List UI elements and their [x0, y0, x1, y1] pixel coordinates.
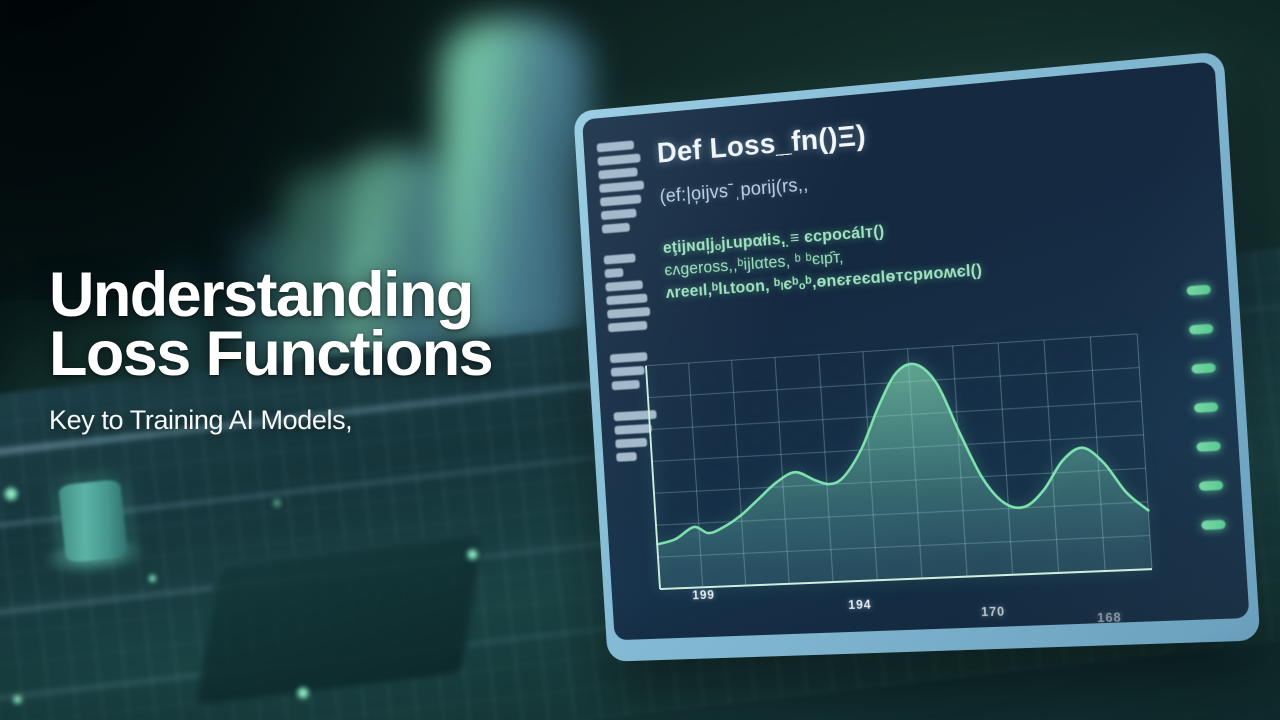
gutter-bar	[597, 153, 640, 165]
chart-y-axis	[646, 366, 660, 589]
status-marker-pill	[1186, 285, 1211, 296]
led-dot	[3, 486, 19, 502]
gutter-bar	[602, 223, 630, 234]
x-tick-label: 170	[981, 605, 1006, 620]
title-line-2: Loss Functions	[49, 325, 609, 384]
hardware-knob	[58, 479, 128, 563]
gutter-gap	[603, 235, 652, 251]
gutter-bar	[615, 438, 647, 449]
gutter-bar	[606, 294, 647, 306]
status-marker-pill	[1191, 363, 1216, 374]
background-dark-corner	[0, 0, 520, 300]
gutter-bar	[610, 352, 648, 363]
led-dot	[466, 548, 479, 561]
headline-block: Understanding Loss Functions Key to Trai…	[49, 266, 609, 436]
code-body: eţijɴɑl̦jₒjʟupαłis,̤ ≡ єcpocálт() єʌgero…	[662, 195, 1206, 304]
gutter-bar	[598, 167, 638, 179]
gutter-bar	[604, 253, 636, 264]
led-dot	[272, 498, 282, 508]
page-title: Understanding Loss Functions	[49, 266, 609, 384]
status-marker-pill	[1199, 480, 1224, 490]
chart-area	[647, 350, 1152, 589]
page-subtitle: Key to Training AI Models,	[49, 405, 609, 436]
status-marker-pill	[1194, 402, 1219, 413]
gutter-bar	[605, 280, 643, 291]
led-dot	[148, 574, 157, 583]
led-dot	[12, 694, 23, 705]
gutter-gap	[609, 334, 658, 350]
gutter-bar	[611, 366, 645, 377]
code-editor[interactable]: Def Loss_fn()Ξ) (ef:|o̦ijvsˉˌporij(rs,, …	[656, 90, 1206, 304]
x-tick-label: 168	[1097, 610, 1122, 625]
status-marker-pill	[1196, 441, 1221, 452]
status-markers	[1186, 285, 1225, 530]
gutter-bar	[601, 208, 637, 220]
status-marker-pill	[1189, 324, 1214, 335]
gutter-bar	[616, 452, 637, 462]
gutter-bar	[608, 321, 648, 332]
gutter-bar	[614, 424, 652, 435]
gutter-bar	[599, 181, 644, 193]
gutter-bar	[612, 380, 640, 390]
gutter-bar	[597, 140, 635, 152]
loss-curve-chart[interactable]	[646, 334, 1152, 589]
gutter-bar	[607, 307, 650, 319]
status-marker-pill	[1201, 520, 1226, 530]
tablet-screen: Def Loss_fn()Ξ) (ef:|o̦ijvsˉˌporij(rs,, …	[582, 61, 1249, 640]
x-tick-label: 199	[692, 588, 715, 602]
chart-svg	[646, 334, 1152, 589]
gutter-bar	[600, 194, 641, 206]
grid-line-horizontal	[646, 334, 1137, 366]
led-dot	[296, 686, 310, 700]
poster-stage: Understanding Loss Functions Key to Trai…	[0, 0, 1280, 720]
tablet-device: Def Loss_fn()Ξ) (ef:|o̦ijvsˉˌporij(rs,, …	[573, 51, 1260, 662]
x-tick-label: 194	[848, 598, 872, 612]
